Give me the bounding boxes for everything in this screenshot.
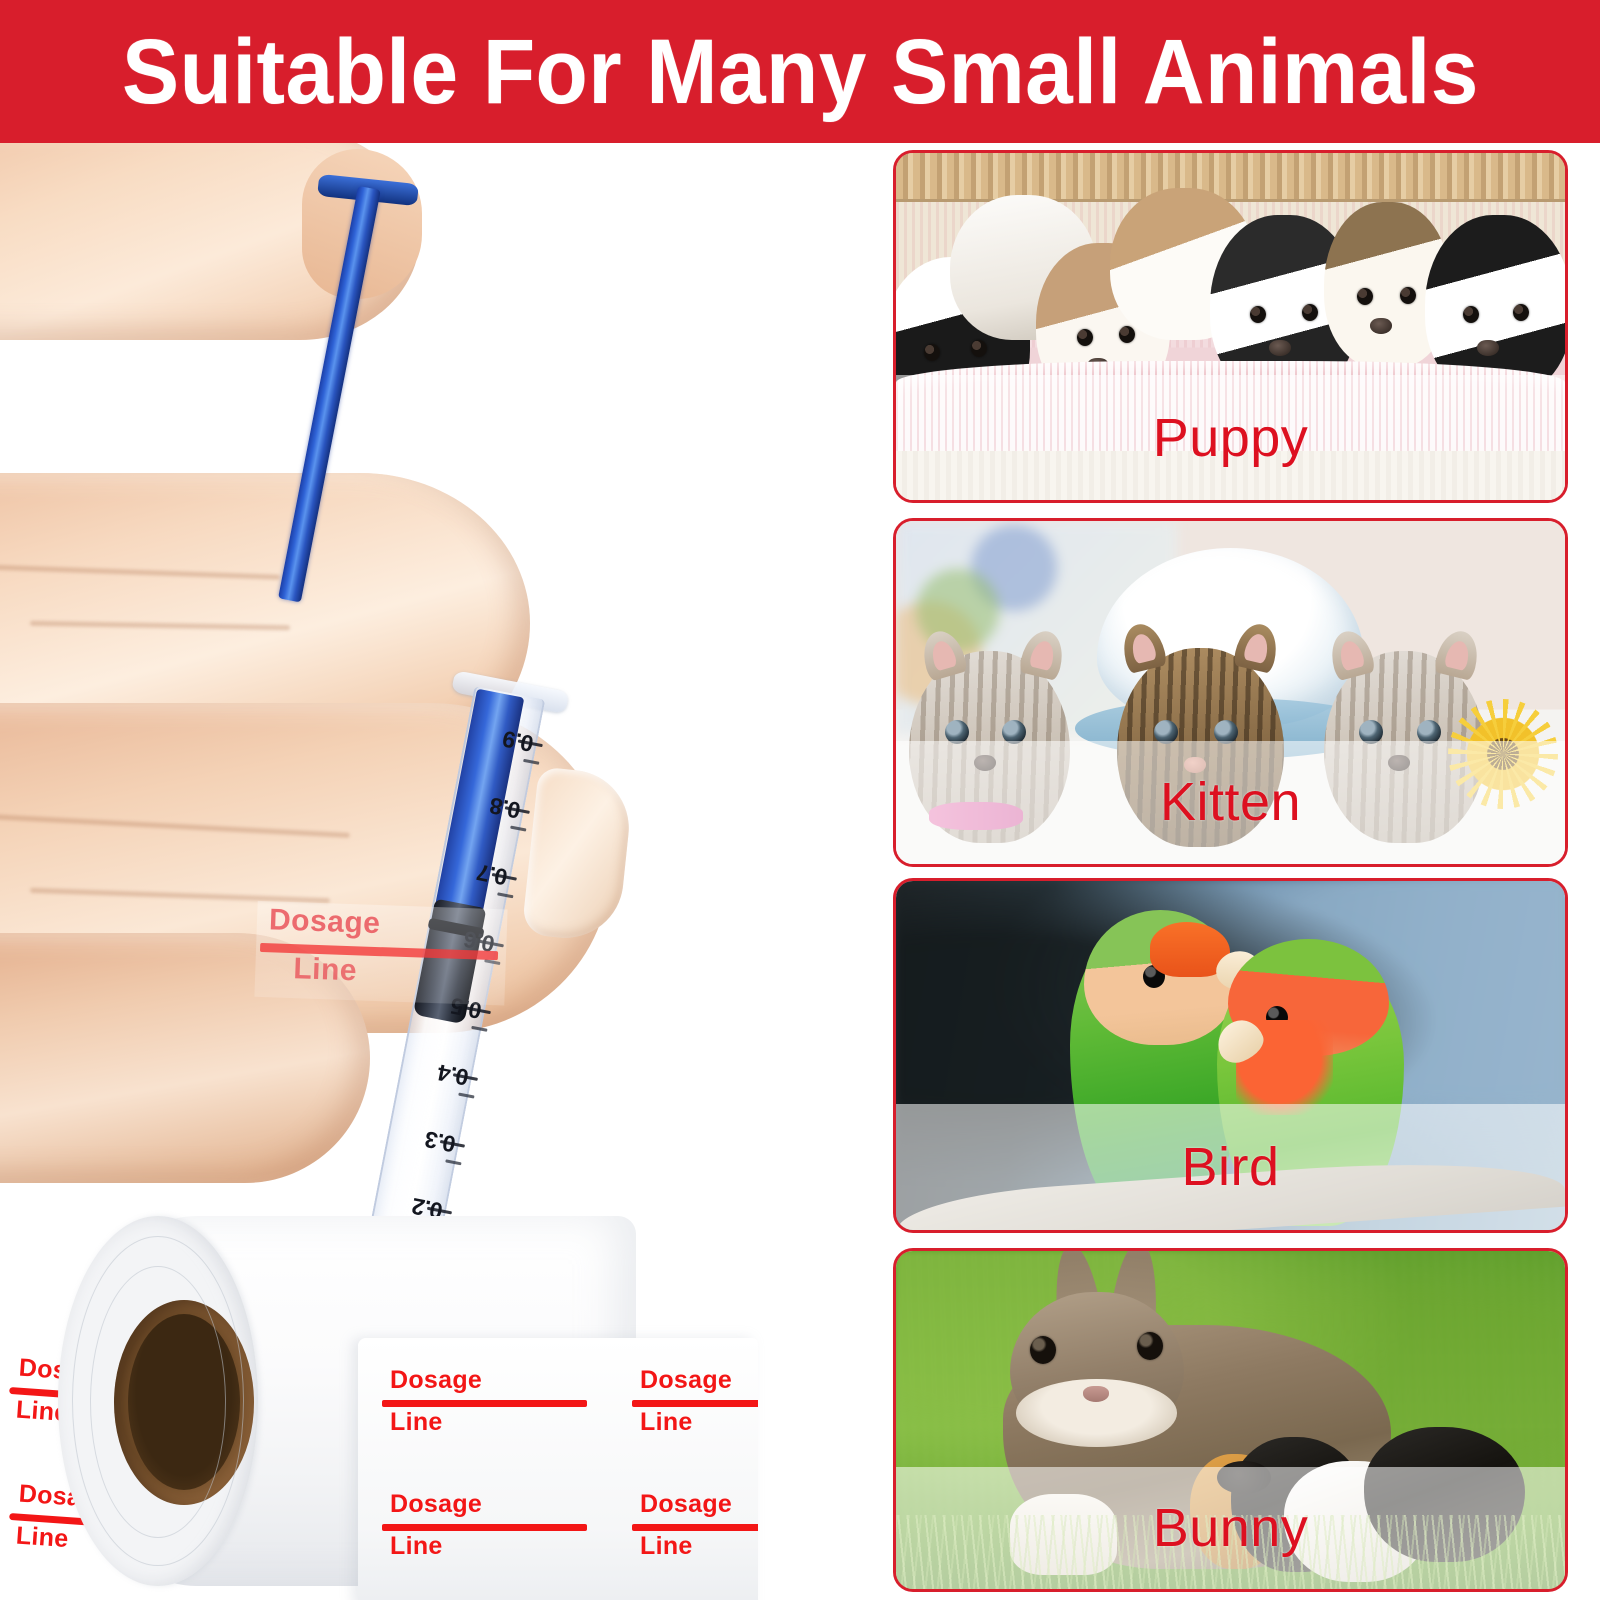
graduation-0-7: 0.7 [475, 858, 510, 890]
applied-sticker-dosage-text: Dosage [268, 903, 380, 941]
animal-card-bird[interactable]: Bird [893, 878, 1568, 1233]
sticker-dosage-text: Dosage [390, 1366, 482, 1395]
graduation-0-8: 0.8 [488, 792, 523, 824]
bunny-eye-right [1137, 1332, 1163, 1360]
sticker-rule [632, 1400, 758, 1407]
roll-sticker-partial: Dosage Line [630, 1366, 758, 1474]
animal-card-puppy[interactable]: Puppy [893, 150, 1568, 503]
sticker-rule [382, 1400, 587, 1407]
sticker-rule [632, 1524, 758, 1531]
applied-sticker-line-text: Line [293, 952, 358, 988]
roll-front-strip: Dosage Line Dosage Line Dosage Line Dosa… [358, 1338, 758, 1600]
animal-card-bunny[interactable]: Bunny [893, 1248, 1568, 1592]
kitten-label-band: Kitten [896, 741, 1565, 864]
card-label-bunny: Bunny [1153, 1501, 1309, 1555]
roll-sticker: Dosage Line [380, 1366, 590, 1474]
applied-dosage-line-sticker: Dosage Line [254, 901, 507, 1006]
graduation-0-4: 0.4 [436, 1059, 471, 1091]
sticker-line-text: Line [390, 1408, 443, 1437]
sticker-dosage-text: Dosage [640, 1366, 732, 1395]
product-photo-panel: 0.9 0.8 0.7 0.6 0.5 0.4 0.3 0.2 0.1 Dosa… [0, 143, 860, 1600]
label-roll: Dosage Line Dosage Line Dosage Line Dosa… [58, 1188, 758, 1600]
bunny-eye-left [1030, 1336, 1056, 1364]
card-label-kitten: Kitten [1160, 775, 1301, 829]
animal-card-kitten[interactable]: Kitten [893, 518, 1568, 867]
card-label-puppy: Puppy [1153, 411, 1309, 465]
card-label-bird: Bird [1181, 1140, 1279, 1194]
sticker-rule [382, 1524, 587, 1531]
sticker-line-text: Line [15, 1521, 69, 1554]
bird-label-band: Bird [896, 1104, 1565, 1230]
bunny-label-band: Bunny [896, 1467, 1565, 1589]
roll-sticker: Dosage Line [380, 1490, 590, 1598]
header-banner: Suitable For Many Small Animals [0, 0, 1600, 143]
page-title: Suitable For Many Small Animals [122, 26, 1479, 118]
sticker-dosage-text: Dosage [390, 1490, 482, 1519]
roll-sticker-partial: Dosage Line [630, 1490, 758, 1598]
sticker-line-text: Line [390, 1532, 443, 1561]
sticker-line-text: Line [640, 1408, 693, 1437]
graduation-0-3: 0.3 [423, 1125, 458, 1157]
sticker-dosage-text: Dosage [640, 1490, 732, 1519]
basket-rim [896, 153, 1565, 202]
graduation-0-9: 0.9 [501, 725, 536, 757]
kitten-ear [1433, 627, 1483, 681]
sticker-line-text: Line [640, 1532, 693, 1561]
animal-card-list: Puppy [893, 150, 1571, 1592]
puppy-label-band: Puppy [896, 375, 1565, 500]
